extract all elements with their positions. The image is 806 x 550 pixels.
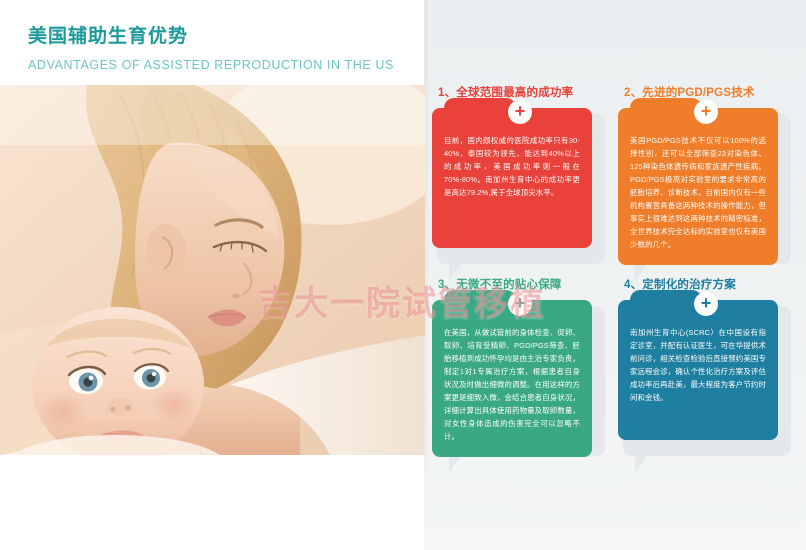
- card-text-3: 在美国，从做试管前的身体检查、促卵、取卵、培育受精卵、PGD/PGS筛查、胚胎移…: [444, 326, 580, 443]
- card-text-4: 南加州生育中心(SCRC）在中国设有指定诊室，并配有认证医生，可在华提供术前问诊…: [630, 326, 766, 404]
- card-text-2: 美国PGD/PGS技术不仅可以100%的选择性别，还可以全部筛查23对染色体、1…: [630, 134, 766, 251]
- card-body-1: + 目前，国内颇权威的医院成功率只有30-40%，泰国较为领先，能达到40%以上…: [432, 108, 592, 248]
- card-body-3: + 在美国，从做试管前的身体检查、促卵、取卵、培育受精卵、PGD/PGS筛查、胚…: [432, 300, 592, 457]
- white-footer-strip: [0, 455, 424, 550]
- card-body-2: + 美国PGD/PGS技术不仅可以100%的选择性别，还可以全部筛查23对染色体…: [618, 108, 778, 265]
- advantage-card-2[interactable]: 2、先进的PGD/PGS技术 + 美国PGD/PGS技术不仅可以100%的选择性…: [618, 85, 788, 265]
- plus-glyph: +: [701, 102, 712, 120]
- page-canvas: 美国辅助生育优势 ADVANTAGES OF ASSISTED REPRODUC…: [0, 0, 806, 550]
- plus-icon[interactable]: +: [694, 292, 718, 316]
- card-bubble-wrap-4: + 南加州生育中心(SCRC）在中国设有指定诊室，并配有认证医生，可在华提供术前…: [618, 300, 788, 440]
- plus-icon[interactable]: +: [508, 292, 532, 316]
- advantage-card-4[interactable]: 4、定制化的治疗方案 + 南加州生育中心(SCRC）在中国设有指定诊室，并配有认…: [618, 277, 788, 440]
- plus-icon[interactable]: +: [694, 100, 718, 124]
- advantage-card-1[interactable]: 1、全球范围最高的成功率 + 目前，国内颇权威的医院成功率只有30-40%，泰国…: [432, 85, 602, 248]
- page-title-cn: 美国辅助生育优势: [28, 24, 408, 50]
- plus-icon[interactable]: +: [508, 100, 532, 124]
- card-bubble-wrap-3: + 在美国，从做试管前的身体检查、促卵、取卵、培育受精卵、PGD/PGS筛查、胚…: [432, 300, 602, 457]
- plus-glyph: +: [701, 294, 712, 312]
- card-bubble-wrap-2: + 美国PGD/PGS技术不仅可以100%的选择性别，还可以全部筛查23对染色体…: [618, 108, 788, 265]
- card-text-1: 目前，国内颇权威的医院成功率只有30-40%，泰国较为领先，能达到40%以上的成…: [444, 134, 580, 199]
- card-tab-2: [630, 98, 702, 118]
- advantage-cards: 1、全球范围最高的成功率 + 目前，国内颇权威的医院成功率只有30-40%，泰国…: [432, 85, 798, 460]
- page-title-en: ADVANTAGES OF ASSISTED REPRODUCTION IN T…: [28, 54, 408, 76]
- plus-glyph: +: [515, 102, 526, 120]
- card-tab-4: [630, 290, 702, 310]
- hero-photo: [0, 85, 425, 455]
- card-tab-1: [444, 98, 516, 118]
- card-bubble-wrap-1: + 目前，国内颇权威的医院成功率只有30-40%，泰国较为领先，能达到40%以上…: [432, 108, 602, 248]
- plus-glyph: +: [515, 294, 526, 312]
- page-header: 美国辅助生育优势 ADVANTAGES OF ASSISTED REPRODUC…: [28, 24, 408, 76]
- card-tab-3: [444, 290, 516, 310]
- advantage-card-3[interactable]: 3、无微不至的贴心保障 + 在美国，从做试管前的身体检查、促卵、取卵、培育受精卵…: [432, 277, 602, 457]
- card-body-4: + 南加州生育中心(SCRC）在中国设有指定诊室，并配有认证医生，可在华提供术前…: [618, 300, 778, 440]
